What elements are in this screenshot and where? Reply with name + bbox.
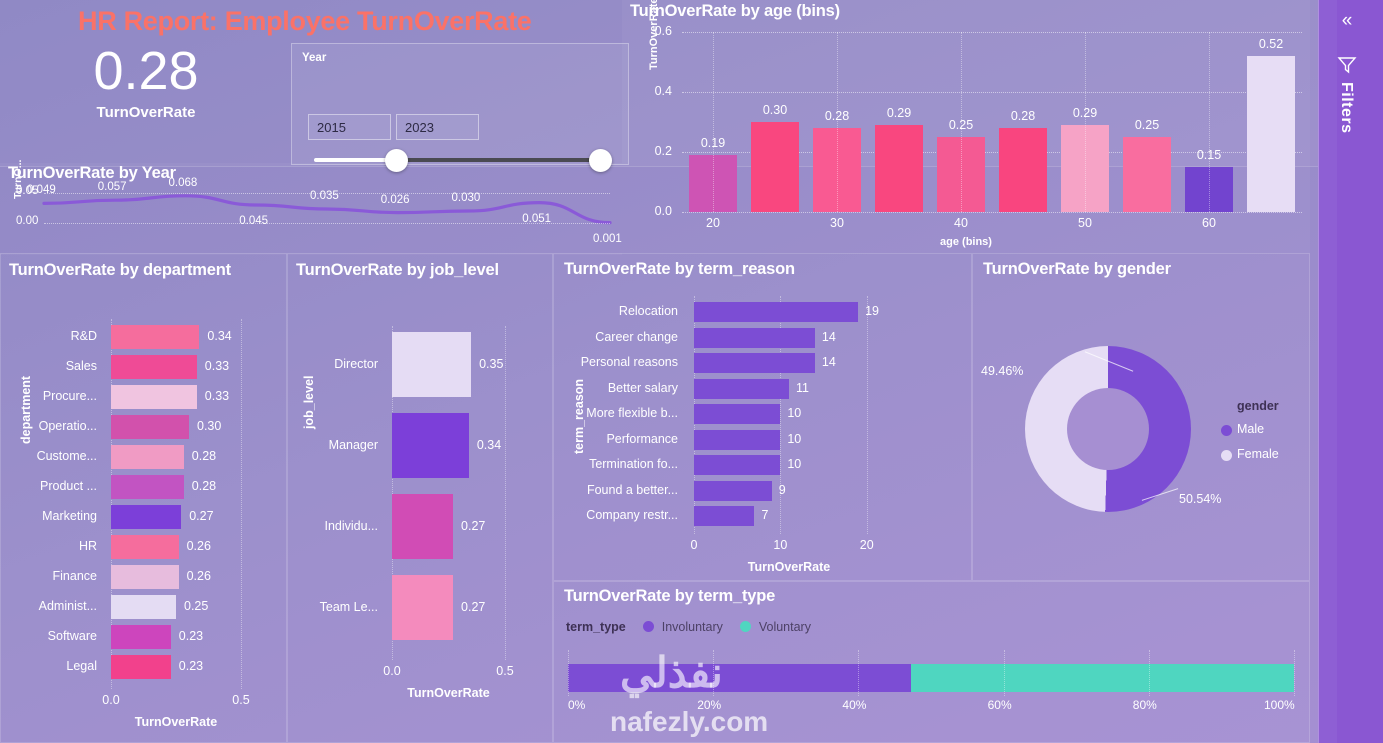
- bar[interactable]: [694, 455, 780, 475]
- gridline: [1294, 650, 1295, 696]
- bar[interactable]: [1123, 137, 1171, 212]
- x-axis-title: TurnOverRate: [332, 686, 565, 700]
- bar[interactable]: [1247, 56, 1295, 212]
- bar[interactable]: [392, 413, 469, 478]
- x-axis-title: TurnOverRate: [634, 560, 944, 574]
- report-canvas: HR Report: Employee TurnOverRate 0.28 Tu…: [0, 0, 1383, 743]
- data-label: 0.026: [381, 194, 410, 206]
- chart-title: TurnOverRate by gender: [983, 260, 1171, 279]
- data-label: 0.34: [207, 329, 231, 343]
- data-label: 0.068: [169, 177, 198, 189]
- gridline: [713, 32, 714, 212]
- x-axis-tick: 0.5: [480, 664, 530, 678]
- x-axis-tick: 0.0: [86, 693, 136, 707]
- category-label: More flexible b...: [554, 406, 686, 420]
- data-label: 0.045: [239, 215, 268, 227]
- legend-label: Female: [1237, 447, 1279, 461]
- data-label: 0.28: [192, 479, 216, 493]
- bar[interactable]: [111, 355, 197, 379]
- data-label: 0.26: [187, 539, 211, 553]
- bar[interactable]: [392, 332, 471, 397]
- slider-selected-range: [396, 158, 610, 162]
- bar[interactable]: [694, 353, 815, 373]
- bar[interactable]: [694, 302, 858, 322]
- data-label: 0.27: [189, 509, 213, 523]
- gridline: [568, 650, 569, 696]
- data-label: 0.030: [452, 192, 481, 204]
- watermark-latin: nafezly.com: [610, 706, 768, 738]
- chart-turnoverrate-by-term-reason[interactable]: TurnOverRate by term_reason term_reason0…: [553, 253, 972, 581]
- bar[interactable]: [111, 415, 189, 439]
- bar[interactable]: [694, 379, 789, 399]
- category-label: Marketing: [1, 509, 105, 523]
- filters-rail: « Filters: [1318, 0, 1383, 743]
- chart-title: TurnOverRate by term_type: [564, 587, 775, 606]
- gridline: [1209, 32, 1210, 212]
- year-max-input[interactable]: 2023: [396, 114, 479, 140]
- data-label: 0.23: [179, 659, 203, 673]
- bar[interactable]: [111, 325, 199, 349]
- bar[interactable]: [111, 385, 197, 409]
- stack-segment-voluntary[interactable]: [911, 664, 1294, 692]
- data-label: 14: [822, 355, 836, 369]
- legend-swatch-female: [1221, 450, 1232, 461]
- x-axis-tick: 0.0: [367, 664, 417, 678]
- gridline: [1149, 650, 1150, 696]
- chart-title: TurnOverRate by term_reason: [564, 260, 795, 279]
- donut-ring[interactable]: [1025, 346, 1191, 512]
- bar[interactable]: [751, 122, 799, 212]
- x-axis-tick: 60%: [988, 698, 1012, 712]
- legend: term_type Involuntary Voluntary: [566, 620, 811, 634]
- data-label: 11: [796, 381, 809, 395]
- category-label: Director: [288, 357, 386, 371]
- data-label: 0.049: [27, 184, 56, 196]
- kpi-label: TurnOverRate: [2, 104, 290, 121]
- data-label: 0.30: [197, 419, 221, 433]
- bar[interactable]: [392, 494, 453, 559]
- funnel-icon[interactable]: [1337, 56, 1357, 74]
- chart-title: TurnOverRate by department: [9, 260, 271, 280]
- category-label: Manager: [288, 438, 386, 452]
- category-label: Legal: [1, 659, 105, 673]
- donut-hole: [1067, 388, 1149, 470]
- bar[interactable]: [694, 404, 780, 424]
- data-label: 0.52: [1241, 37, 1301, 51]
- data-label: 0.057: [98, 181, 127, 193]
- y-axis-title: job_level: [302, 376, 316, 430]
- gridline: [858, 650, 859, 696]
- category-label: Personal reasons: [554, 355, 686, 369]
- category-label: Career change: [554, 330, 686, 344]
- gridline: [1004, 650, 1005, 696]
- y-axis-tick: 0.2: [642, 144, 672, 158]
- x-axis-tick: 40%: [842, 698, 866, 712]
- data-label: 0.26: [187, 569, 211, 583]
- x-axis-title: TurnOverRate: [51, 715, 301, 729]
- category-label: Custome...: [1, 449, 105, 463]
- bar[interactable]: [694, 328, 815, 348]
- legend-item-voluntary[interactable]: Voluntary: [740, 620, 811, 634]
- gridline: [241, 319, 242, 689]
- chevron-double-left-icon[interactable]: «: [1333, 8, 1361, 34]
- data-label: 14: [822, 330, 836, 344]
- x-axis-tick: 20: [688, 216, 738, 230]
- category-label: Sales: [1, 359, 105, 373]
- bar[interactable]: [111, 535, 179, 559]
- data-label: 0.035: [310, 190, 339, 202]
- x-axis-tick: 0.5: [216, 693, 266, 707]
- legend-item-female[interactable]: Female: [1237, 447, 1279, 461]
- data-label: 0.25: [1117, 118, 1177, 132]
- category-label: Company restr...: [554, 508, 686, 522]
- x-axis-tick: 80%: [1133, 698, 1157, 712]
- gridline: [1085, 32, 1086, 212]
- watermark-arabic: نفذلي: [620, 648, 723, 697]
- category-label: Team Le...: [288, 600, 386, 614]
- data-label: 19: [865, 304, 879, 318]
- x-axis-tick: 0: [669, 538, 719, 552]
- bar[interactable]: [111, 445, 184, 469]
- category-label: Better salary: [554, 381, 686, 395]
- legend-item-involuntary[interactable]: Involuntary: [643, 620, 726, 634]
- slice-label-female: 49.46%: [981, 364, 1023, 378]
- category-label: HR: [1, 539, 105, 553]
- category-label: Termination fo...: [554, 457, 686, 471]
- bar[interactable]: [111, 475, 184, 499]
- slicer-label: Year: [302, 52, 326, 64]
- category-label: Product ...: [1, 479, 105, 493]
- data-label: 0.33: [205, 359, 229, 373]
- gridline: [867, 296, 868, 534]
- year-range-slicer[interactable]: Year 2015 2023: [291, 43, 629, 165]
- filters-label: Filters: [1337, 82, 1355, 134]
- data-label: 0.29: [1055, 106, 1115, 120]
- data-label: 10: [787, 406, 801, 420]
- y-axis-tick: 0.0: [642, 204, 672, 218]
- legend-item-male[interactable]: Male: [1237, 422, 1264, 436]
- category-label: Administ...: [1, 599, 105, 613]
- data-label: 10: [787, 457, 801, 471]
- x-axis-tick: 20: [842, 538, 892, 552]
- category-label: Procure...: [1, 389, 105, 403]
- data-label: 7: [761, 508, 768, 522]
- category-label: Found a better...: [554, 483, 686, 497]
- category-label: Finance: [1, 569, 105, 583]
- category-label: R&D: [1, 329, 105, 343]
- page-title: HR Report: Employee TurnOverRate: [78, 6, 548, 37]
- data-label: 0.35: [479, 357, 503, 371]
- data-label: 0.28: [807, 109, 867, 123]
- x-axis-title: age (bins): [622, 236, 1310, 248]
- legend-title: term_type: [566, 620, 626, 634]
- data-label: 0.19: [683, 136, 743, 150]
- data-label: 0.25: [931, 118, 991, 132]
- chart-title: TurnOverRate by age (bins): [630, 2, 840, 21]
- x-axis-tick: 50: [1060, 216, 1110, 230]
- chart-turnoverrate-by-department[interactable]: TurnOverRate by department departmentR&D…: [0, 253, 287, 743]
- gridline: [505, 326, 506, 660]
- data-label: 0.33: [205, 389, 229, 403]
- x-axis-tick: 60: [1184, 216, 1234, 230]
- data-label: 0.051: [522, 213, 551, 225]
- category-label: Operatio...: [1, 419, 105, 433]
- bar[interactable]: [111, 595, 176, 619]
- x-axis-tick: 100%: [1264, 698, 1295, 712]
- bar[interactable]: [111, 625, 171, 649]
- x-axis-tick: 30: [812, 216, 862, 230]
- bar[interactable]: [111, 655, 171, 679]
- legend-label: Male: [1237, 422, 1264, 436]
- gridline: [682, 212, 1302, 213]
- kpi-value: 0.28: [2, 40, 290, 102]
- year-min-input[interactable]: 2015: [308, 114, 391, 140]
- chart-turnoverrate-by-age-bins[interactable]: TurnOverRate by age (bins) TurnOverRate …: [622, 0, 1310, 253]
- chart-turnoverrate-by-job-level[interactable]: TurnOverRate by job_level job_levelDirec…: [287, 253, 553, 743]
- legend-swatch-male: [1221, 425, 1232, 436]
- bar[interactable]: [392, 575, 453, 640]
- y-axis-title: department: [19, 376, 33, 444]
- category-label: Individu...: [288, 519, 386, 533]
- bar[interactable]: [694, 481, 772, 501]
- data-label: 0.23: [179, 629, 203, 643]
- bar[interactable]: [111, 565, 179, 589]
- bar[interactable]: [999, 128, 1047, 212]
- y-axis-tick: 0.6: [642, 24, 672, 38]
- category-label: Software: [1, 629, 105, 643]
- data-label: 0.28: [192, 449, 216, 463]
- bar[interactable]: [694, 430, 780, 450]
- data-label: 9: [779, 483, 786, 497]
- data-label: 0.25: [184, 599, 208, 613]
- legend-swatch-involuntary: [643, 621, 654, 632]
- x-axis-tick: 40: [936, 216, 986, 230]
- y-axis-tick: 0.4: [642, 84, 672, 98]
- data-label: 0.001: [593, 233, 622, 245]
- y-axis-tick: 0.00: [16, 215, 38, 227]
- legend-swatch-voluntary: [740, 621, 751, 632]
- data-label: 0.29: [869, 106, 929, 120]
- legend-title: gender: [1237, 399, 1279, 413]
- kpi-card-turnoverrate: 0.28 TurnOverRate: [2, 40, 290, 165]
- data-label: 0.28: [993, 109, 1053, 123]
- slice-label-male: 50.54%: [1179, 492, 1221, 506]
- bar[interactable]: [111, 505, 181, 529]
- bar[interactable]: [694, 506, 754, 526]
- data-label: 0.27: [461, 519, 485, 533]
- x-axis-tick: 0%: [568, 698, 585, 712]
- chart-turnoverrate-by-gender[interactable]: TurnOverRate by gender 49.46% 50.54% gen…: [972, 253, 1310, 581]
- data-label: 0.30: [745, 103, 805, 117]
- legend-label: Voluntary: [759, 620, 811, 634]
- chart-title: TurnOverRate by Year: [8, 164, 176, 183]
- category-label: Relocation: [554, 304, 686, 318]
- data-label: 0.27: [461, 600, 485, 614]
- data-label: 0.34: [477, 438, 501, 452]
- category-label: Performance: [554, 432, 686, 446]
- chart-title: TurnOverRate by job_level: [296, 260, 539, 280]
- x-axis-tick: 10: [755, 538, 805, 552]
- data-label: 0.15: [1179, 148, 1239, 162]
- chart-turnoverrate-by-year[interactable]: TurnOverRate by Year TurnO... 0.000.050.…: [0, 163, 622, 255]
- data-label: 10: [787, 432, 801, 446]
- legend-label: Involuntary: [662, 620, 723, 634]
- bar[interactable]: [875, 125, 923, 212]
